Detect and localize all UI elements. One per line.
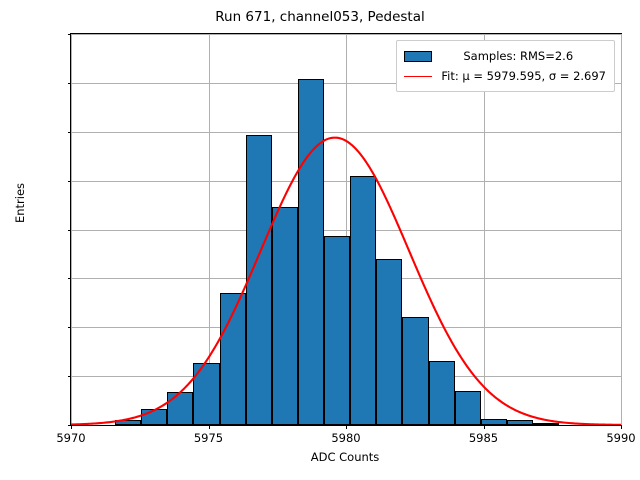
legend-label-fit: Fit: μ = 5979.595, σ = 2.697 [441, 69, 606, 83]
y-tick-mark [68, 132, 72, 133]
y-tick-mark [68, 181, 72, 182]
x-tick-label: 5985 [469, 431, 498, 445]
x-tick-mark [209, 425, 210, 429]
legend-item-samples: Samples: RMS=2.6 [404, 46, 606, 66]
x-tick-label: 5975 [194, 431, 223, 445]
legend-label-samples: Samples: RMS=2.6 [463, 49, 573, 63]
histogram-bar [141, 409, 167, 425]
y-tick-mark [68, 278, 72, 279]
histogram-bar [533, 423, 559, 425]
y-tick-mark [68, 83, 72, 84]
gridline-vertical [621, 34, 622, 425]
y-tick-mark [68, 230, 72, 231]
histogram-bar [481, 419, 507, 425]
x-tick-mark [621, 425, 622, 429]
plot-area: 025050075010001250150017502000 597059755… [70, 33, 622, 426]
x-tick-label: 5970 [56, 431, 85, 445]
histogram-bar [429, 361, 455, 426]
histogram-bar [272, 207, 298, 425]
chart-legend: Samples: RMS=2.6 Fit: μ = 5979.595, σ = … [396, 40, 615, 92]
histogram-bar [376, 259, 402, 425]
histogram-bar [220, 293, 246, 425]
x-tick-label: 5990 [606, 431, 635, 445]
histogram-bar [298, 79, 324, 425]
histogram-bar [350, 176, 376, 425]
y-tick-mark [68, 327, 72, 328]
histogram-bar [246, 135, 272, 425]
histogram-bar [167, 392, 193, 425]
histogram-bar [507, 420, 533, 425]
x-tick-mark [346, 425, 347, 429]
y-tick-mark [68, 34, 72, 35]
y-tick-mark [68, 376, 72, 377]
histogram-bar [324, 236, 350, 425]
x-tick-mark [71, 425, 72, 429]
gridline-vertical [484, 34, 485, 425]
figure-canvas: Run 671, channel053, Pedestal Entries AD… [0, 0, 640, 480]
chart-title: Run 671, channel053, Pedestal [0, 8, 640, 26]
gridline-vertical [71, 34, 72, 425]
x-tick-label: 5980 [331, 431, 360, 445]
histogram-bar [402, 317, 428, 426]
x-axis-label: ADC Counts [70, 450, 620, 464]
histogram-bar [455, 391, 481, 425]
histogram-bar [193, 363, 219, 425]
y-axis-label: Entries [13, 123, 27, 283]
x-tick-mark [484, 425, 485, 429]
histogram-bar [115, 420, 141, 425]
legend-swatch-samples-icon [404, 51, 432, 62]
legend-item-fit: Fit: μ = 5979.595, σ = 2.697 [404, 66, 606, 86]
legend-swatch-fit-icon [404, 76, 432, 77]
